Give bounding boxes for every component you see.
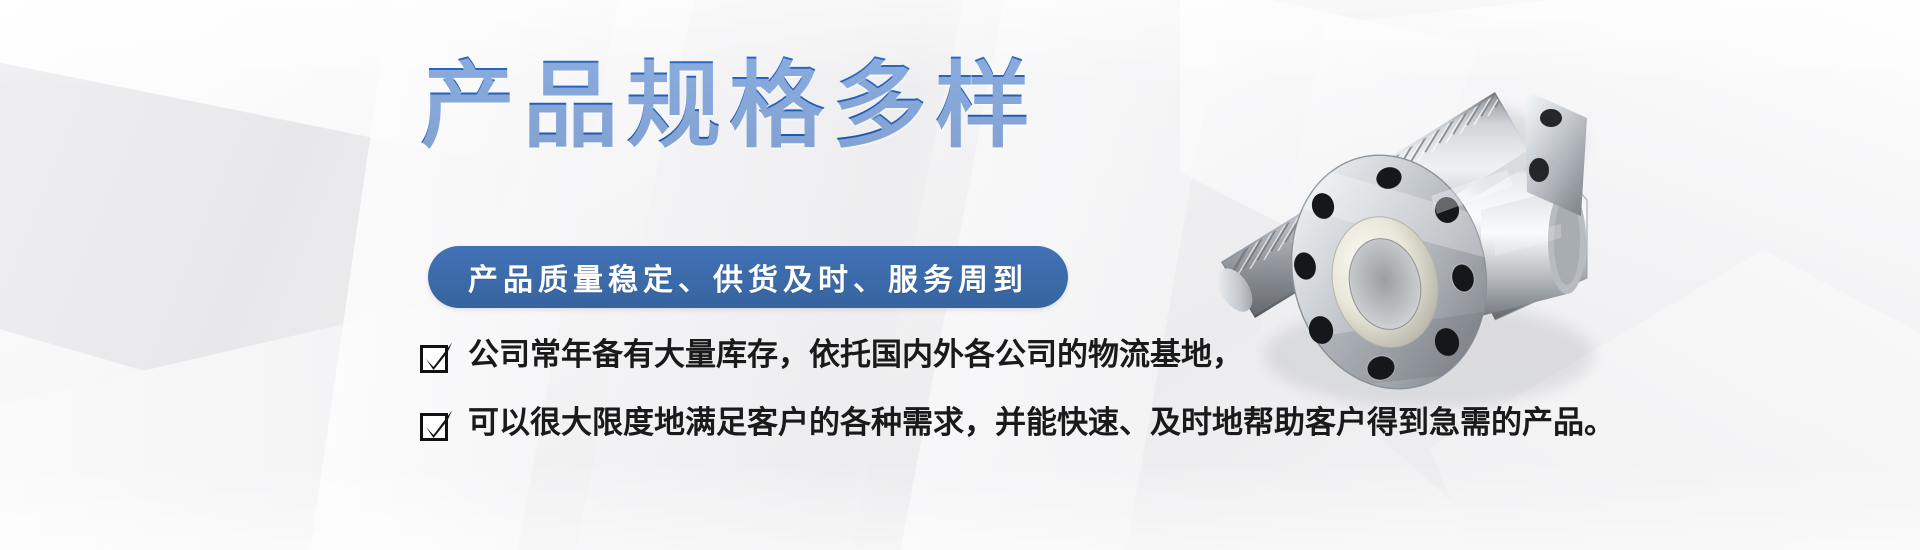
list-item-label: 公司常年备有大量库存，依托国内外各公司的物流基地， bbox=[468, 338, 1243, 371]
list-item: 公司常年备有大量库存，依托国内外各公司的物流基地， bbox=[418, 338, 1615, 376]
list-item-label: 可以很大限度地满足客户的各种需求，并能快速、及时地帮助客户得到急需的产品。 bbox=[468, 406, 1615, 439]
tagline-pill: 产品质量稳定、供货及时、服务周到 bbox=[428, 246, 1068, 308]
page-title: 产品规格多样 bbox=[420, 55, 1038, 158]
feature-list: 公司常年备有大量库存，依托国内外各公司的物流基地， 可以很大限度地满足客户的各种… bbox=[418, 338, 1615, 474]
product-banner: 产品规格多样 产品质量稳定、供货及时、服务周到 公司常年备有大量库存，依托国内外… bbox=[0, 0, 1920, 550]
checkbox-checked-icon bbox=[418, 340, 454, 376]
tagline-text: 产品质量稳定、供货及时、服务周到 bbox=[468, 255, 1028, 299]
banner-content: 产品规格多样 产品质量稳定、供货及时、服务周到 公司常年备有大量库存，依托国内外… bbox=[0, 0, 1100, 550]
checkbox-checked-icon bbox=[418, 408, 454, 444]
list-item: 可以很大限度地满足客户的各种需求，并能快速、及时地帮助客户得到急需的产品。 bbox=[418, 406, 1615, 444]
